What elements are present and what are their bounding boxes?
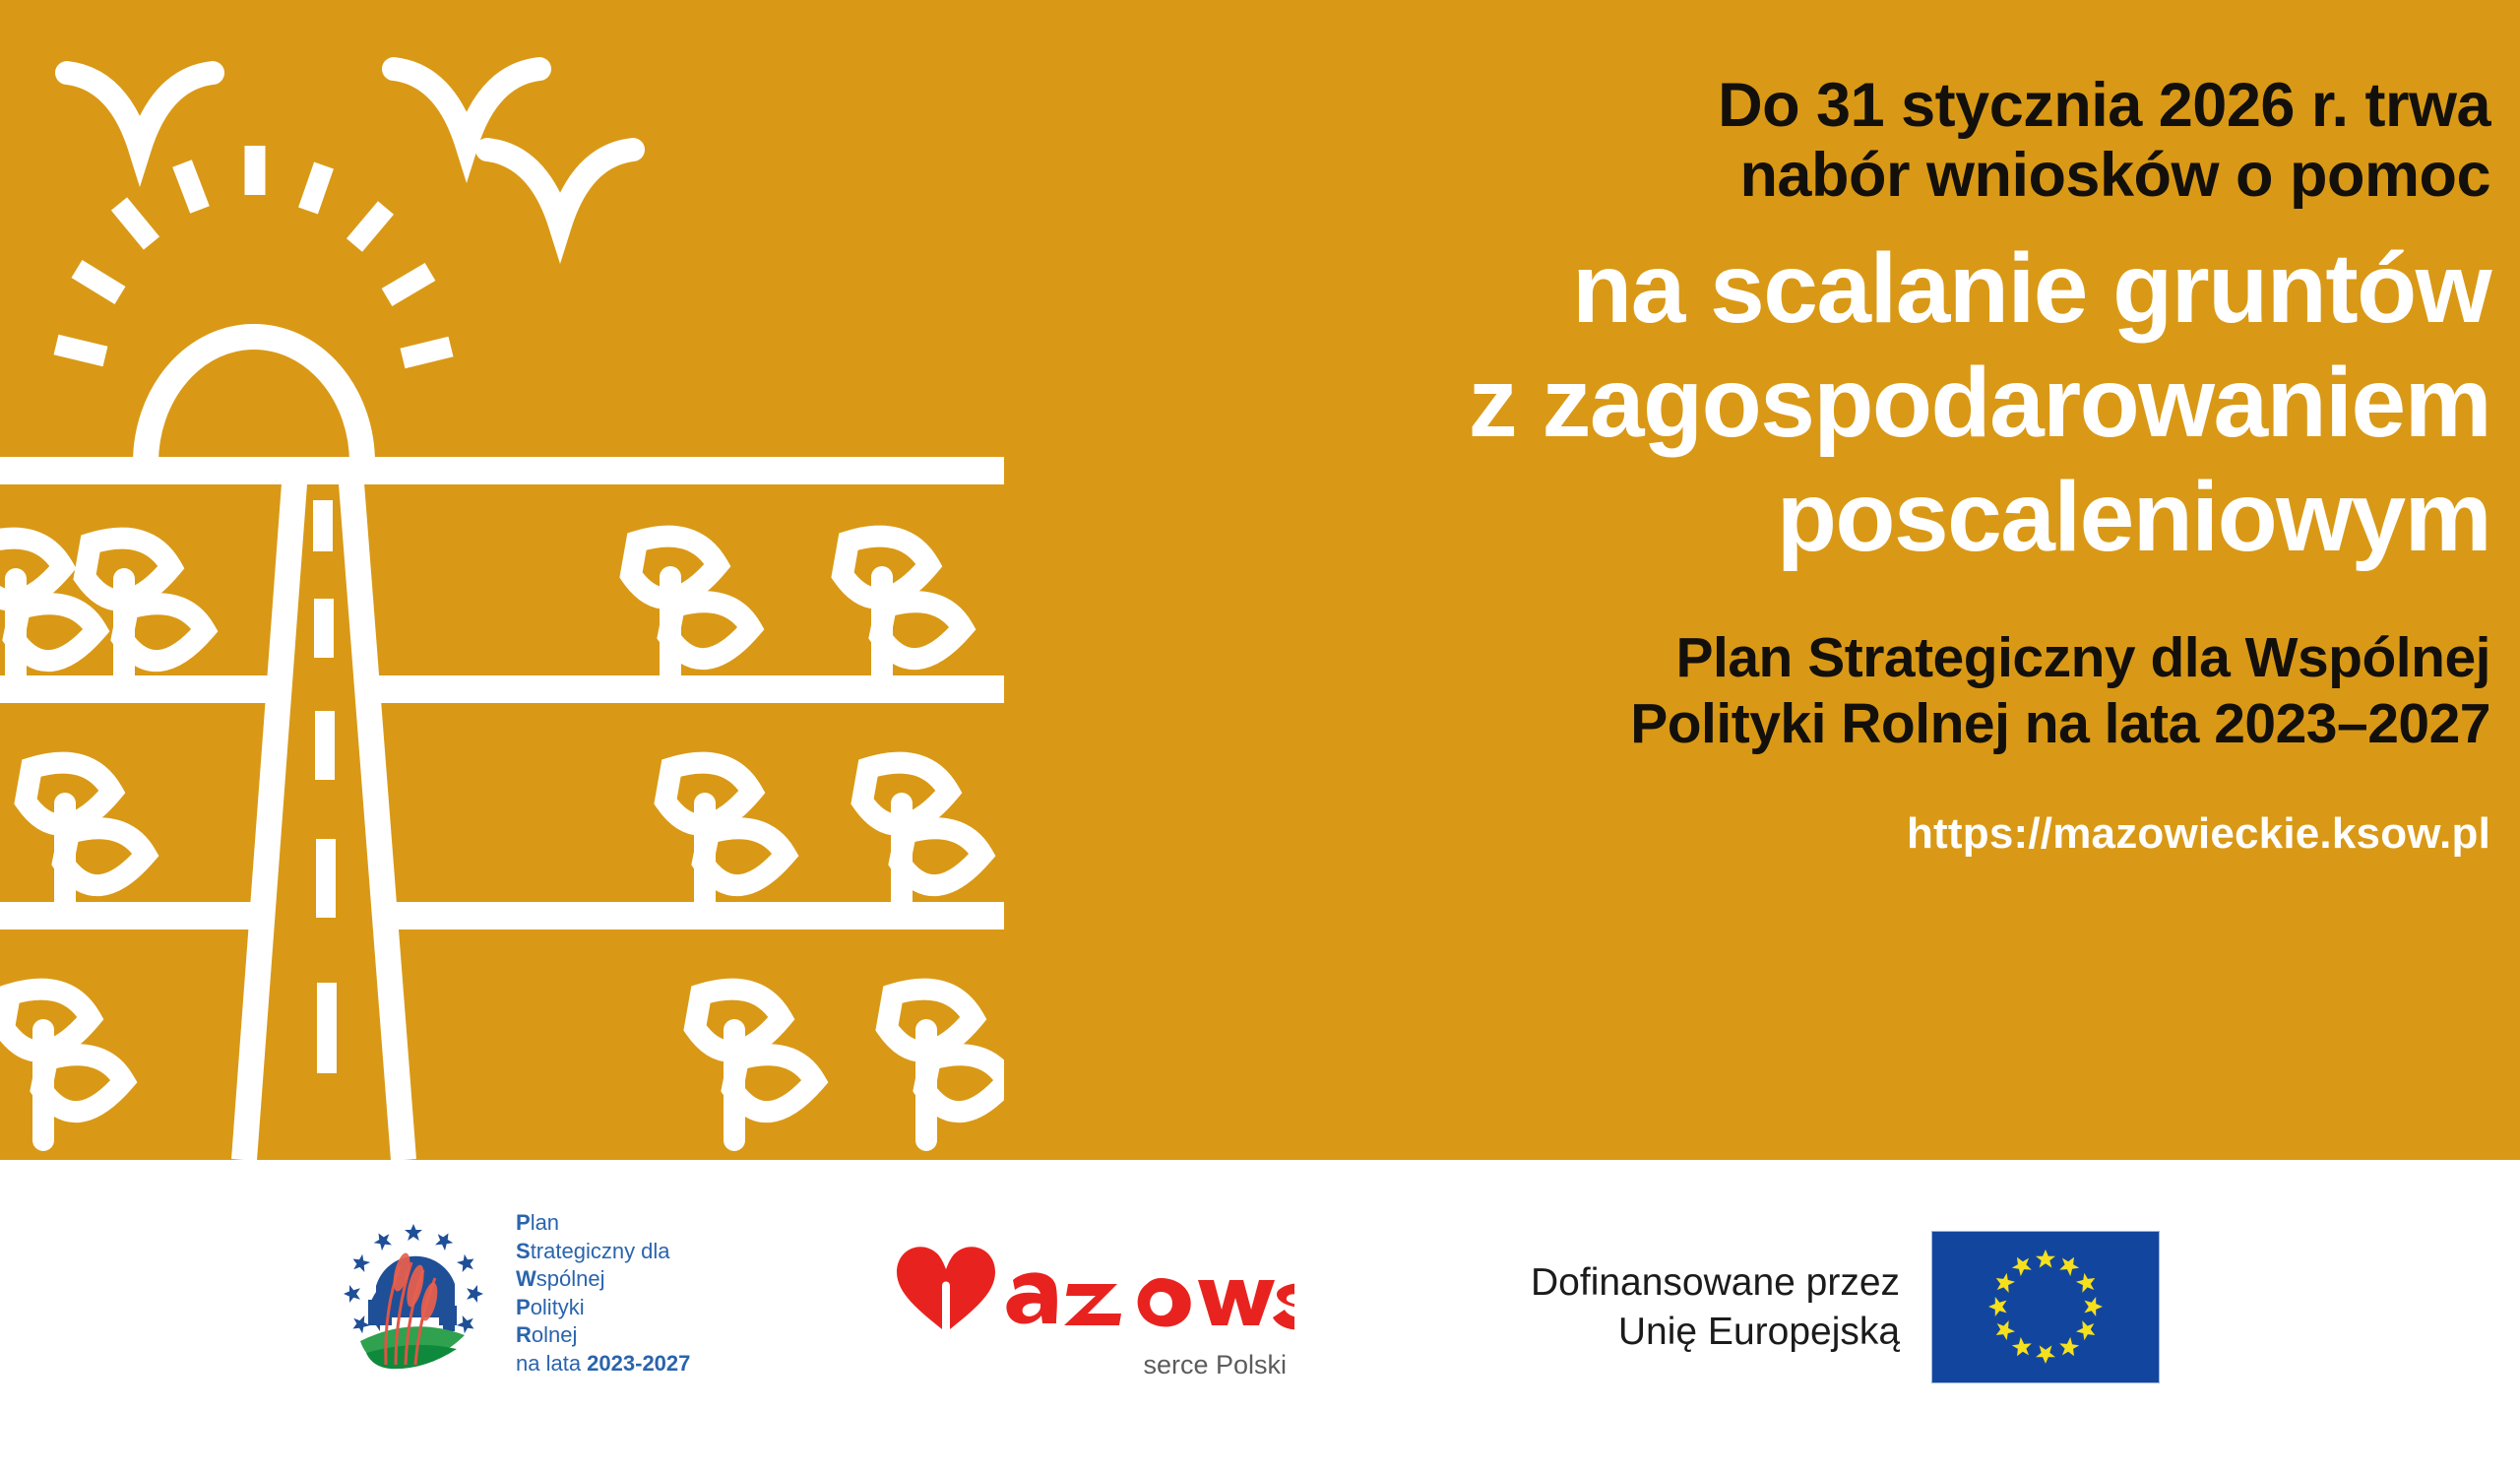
road-icon: [350, 471, 404, 1160]
sprout-icon: [0, 537, 1004, 1140]
ps-wpr-years-prefix: na lata: [516, 1351, 587, 1376]
ps-wpr-rest: trategiczny dla: [531, 1239, 670, 1263]
mazowsze-tagline: serce Polski: [881, 1350, 1294, 1380]
ps-wpr-initial: S: [516, 1239, 531, 1263]
land-consolidation-illustration: [0, 0, 1004, 1160]
hero-panel: Do 31 stycznia 2026 r. trwa nabór wniosk…: [0, 0, 2520, 1160]
ps-wpr-rest: olnej: [532, 1322, 577, 1347]
ps-wpr-line: Plan: [516, 1209, 690, 1238]
ps-wpr-initial: R: [516, 1322, 532, 1347]
ps-wpr-initial: W: [516, 1266, 536, 1291]
road-icon: [244, 471, 295, 1160]
eu-funding-logo: Dofinansowane przez Unię Europejską: [1531, 1231, 2160, 1383]
ps-wpr-line: Rolnej: [516, 1321, 690, 1350]
footer-logo-bar: Plan Strategiczny dla Wspólnej Polityki …: [0, 1160, 2520, 1475]
ps-wpr-years: 2023-2027: [587, 1351, 690, 1376]
ps-wpr-rest: olityki: [531, 1295, 585, 1319]
eu-funding-text: Dofinansowane przez Unię Europejską: [1531, 1258, 1900, 1355]
ps-wpr-line: Wspólnej: [516, 1265, 690, 1294]
hero-url-link[interactable]: https://mazowieckie.ksow.pl: [1014, 809, 2490, 859]
hero-headline: na scalanie gruntów z zagospodarowaniem …: [1014, 231, 2490, 574]
ps-wpr-logo-text: Plan Strategiczny dla Wspólnej Polityki …: [516, 1209, 690, 1379]
field-icon: [360, 1326, 465, 1369]
sun-icon: [146, 337, 362, 463]
poster-root: Do 31 stycznia 2026 r. trwa nabór wniosk…: [0, 0, 2520, 1475]
hero-eyebrow: Do 31 stycznia 2026 r. trwa nabór wniosk…: [1014, 71, 2490, 210]
ps-wpr-rest: lan: [531, 1210, 559, 1235]
bird-icon: [67, 69, 633, 224]
hero-copy: Do 31 stycznia 2026 r. trwa nabór wniosk…: [1014, 71, 2490, 859]
ps-wpr-logo: Plan Strategiczny dla Wspólnej Polityki …: [325, 1209, 690, 1379]
road-dash: [323, 500, 327, 1073]
ps-wpr-line: Strategiczny dla: [516, 1238, 690, 1266]
hero-programme: Plan Strategiczny dla Wspólnej Polityki …: [1014, 625, 2490, 758]
logo-row: Plan Strategiczny dla Wspólnej Polityki …: [0, 1160, 2520, 1475]
eu-flag-icon: [1931, 1231, 2160, 1383]
mazowsze-logo: mazowsze. serce Polski: [881, 1229, 1294, 1380]
ps-wpr-rest: spólnej: [536, 1266, 605, 1291]
mazowsze-wordmark-icon: [881, 1229, 1294, 1337]
ps-wpr-initial: P: [516, 1295, 531, 1319]
ps-wpr-emblem-icon: [325, 1215, 502, 1373]
ps-wpr-years-line: na lata 2023-2027: [516, 1350, 690, 1379]
ps-wpr-line: Polityki: [516, 1294, 690, 1322]
ps-wpr-initial: P: [516, 1210, 531, 1235]
